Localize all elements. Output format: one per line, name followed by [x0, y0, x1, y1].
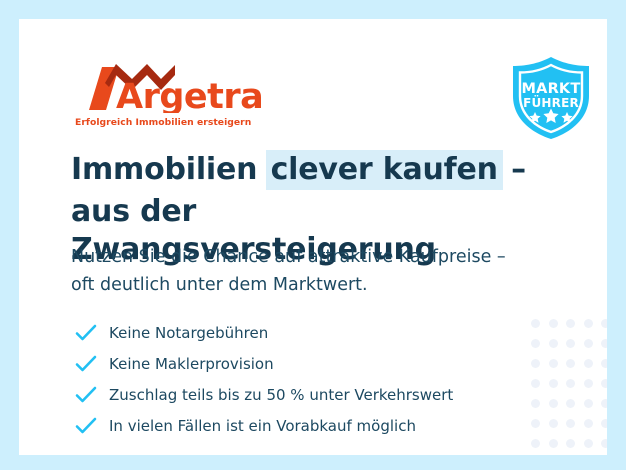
decorative-dot [584, 419, 593, 428]
decorative-dot [566, 339, 575, 348]
list-item-label: In vielen Fällen ist ein Vorabkauf mögli… [109, 417, 416, 435]
decorative-dot [601, 359, 607, 368]
market-leader-badge: MARKT FÜHRER [508, 55, 594, 141]
argetra-logo: Argetra Erfolgreich Immobilien ersteiger… [75, 63, 255, 129]
decorative-dot [549, 399, 558, 408]
subtitle-line2: oft deutlich unter dem Marktwert. [71, 271, 541, 299]
check-icon [75, 355, 97, 373]
decorative-dot [549, 319, 558, 328]
decorative-dot [549, 359, 558, 368]
list-item: Keine Maklerprovision [75, 348, 545, 379]
decorative-dot [549, 339, 558, 348]
page-subtitle: Nutzen Sie die Chance auf attraktive Kau… [71, 243, 541, 299]
check-icon [75, 324, 97, 342]
decorative-dot [549, 439, 558, 448]
argetra-tagline: Erfolgreich Immobilien ersteigern [75, 117, 251, 128]
subtitle-line1: Nutzen Sie die Chance auf attraktive Kau… [71, 243, 541, 271]
decorative-dot [584, 399, 593, 408]
decorative-dot [566, 379, 575, 388]
decorative-dot [584, 439, 593, 448]
decorative-dot [566, 399, 575, 408]
decorative-dot [566, 359, 575, 368]
decorative-dot [601, 419, 607, 428]
page-frame: Argetra Erfolgreich Immobilien ersteiger… [0, 0, 626, 470]
list-item: Zuschlag teils bis zu 50 % unter Verkehr… [75, 379, 545, 410]
argetra-wordmark: Argetra [116, 77, 263, 113]
decorative-dot [584, 359, 593, 368]
headline-highlight: clever kaufen [266, 150, 503, 190]
list-item-label: Keine Notargebühren [109, 324, 268, 342]
list-item-label: Keine Maklerprovision [109, 355, 274, 373]
decorative-dot [601, 439, 607, 448]
check-icon [75, 417, 97, 435]
headline-part1: Immobilien [71, 152, 268, 187]
badge-line2-text: FÜHRER [523, 95, 579, 110]
check-icon [75, 386, 97, 404]
decorative-dot [584, 339, 593, 348]
decorative-dot [566, 319, 575, 328]
decorative-dot [601, 379, 607, 388]
decorative-dot [584, 319, 593, 328]
decorative-dot [566, 419, 575, 428]
decorative-dot [601, 399, 607, 408]
decorative-dot [549, 379, 558, 388]
decorative-dot [584, 379, 593, 388]
argetra-logo-mark: Argetra [75, 63, 265, 113]
list-item: In vielen Fällen ist ein Vorabkauf mögli… [75, 410, 545, 441]
list-item: Keine Notargebühren [75, 317, 545, 348]
list-item-label: Zuschlag teils bis zu 50 % unter Verkehr… [109, 386, 453, 404]
headline-part2: – [501, 152, 526, 187]
decorative-dot [601, 319, 607, 328]
promo-card: Argetra Erfolgreich Immobilien ersteiger… [19, 19, 607, 455]
benefits-list: Keine Notargebühren Keine Maklerprovisio… [75, 317, 545, 441]
badge-line1-text: MARKT [522, 81, 581, 97]
decorative-dot [549, 419, 558, 428]
decorative-dot [566, 439, 575, 448]
decorative-dot [601, 339, 607, 348]
